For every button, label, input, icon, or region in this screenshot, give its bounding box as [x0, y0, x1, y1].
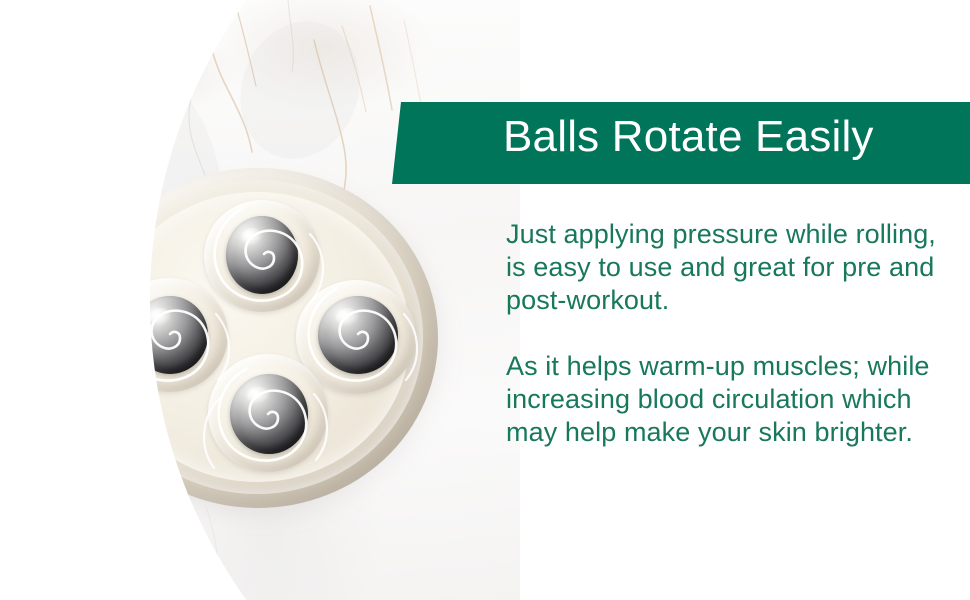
roller-ball-top: [226, 216, 298, 294]
roller-ball-bottom: [230, 374, 308, 454]
product-photo: [0, 0, 520, 600]
roller-ball-right: [318, 296, 398, 374]
page-title: Balls Rotate Easily: [503, 112, 874, 162]
roller-ball-left: [132, 296, 208, 374]
product-infographic-banner: Balls Rotate Easily Just applying pressu…: [0, 0, 970, 600]
description-paragraph-1: Just applying pressure while rolling, is…: [506, 218, 958, 317]
massage-roller-product: [78, 168, 450, 520]
description-block: Just applying pressure while rolling, is…: [506, 218, 958, 449]
description-paragraph-2: As it helps warm-up muscles; while incre…: [506, 350, 958, 449]
